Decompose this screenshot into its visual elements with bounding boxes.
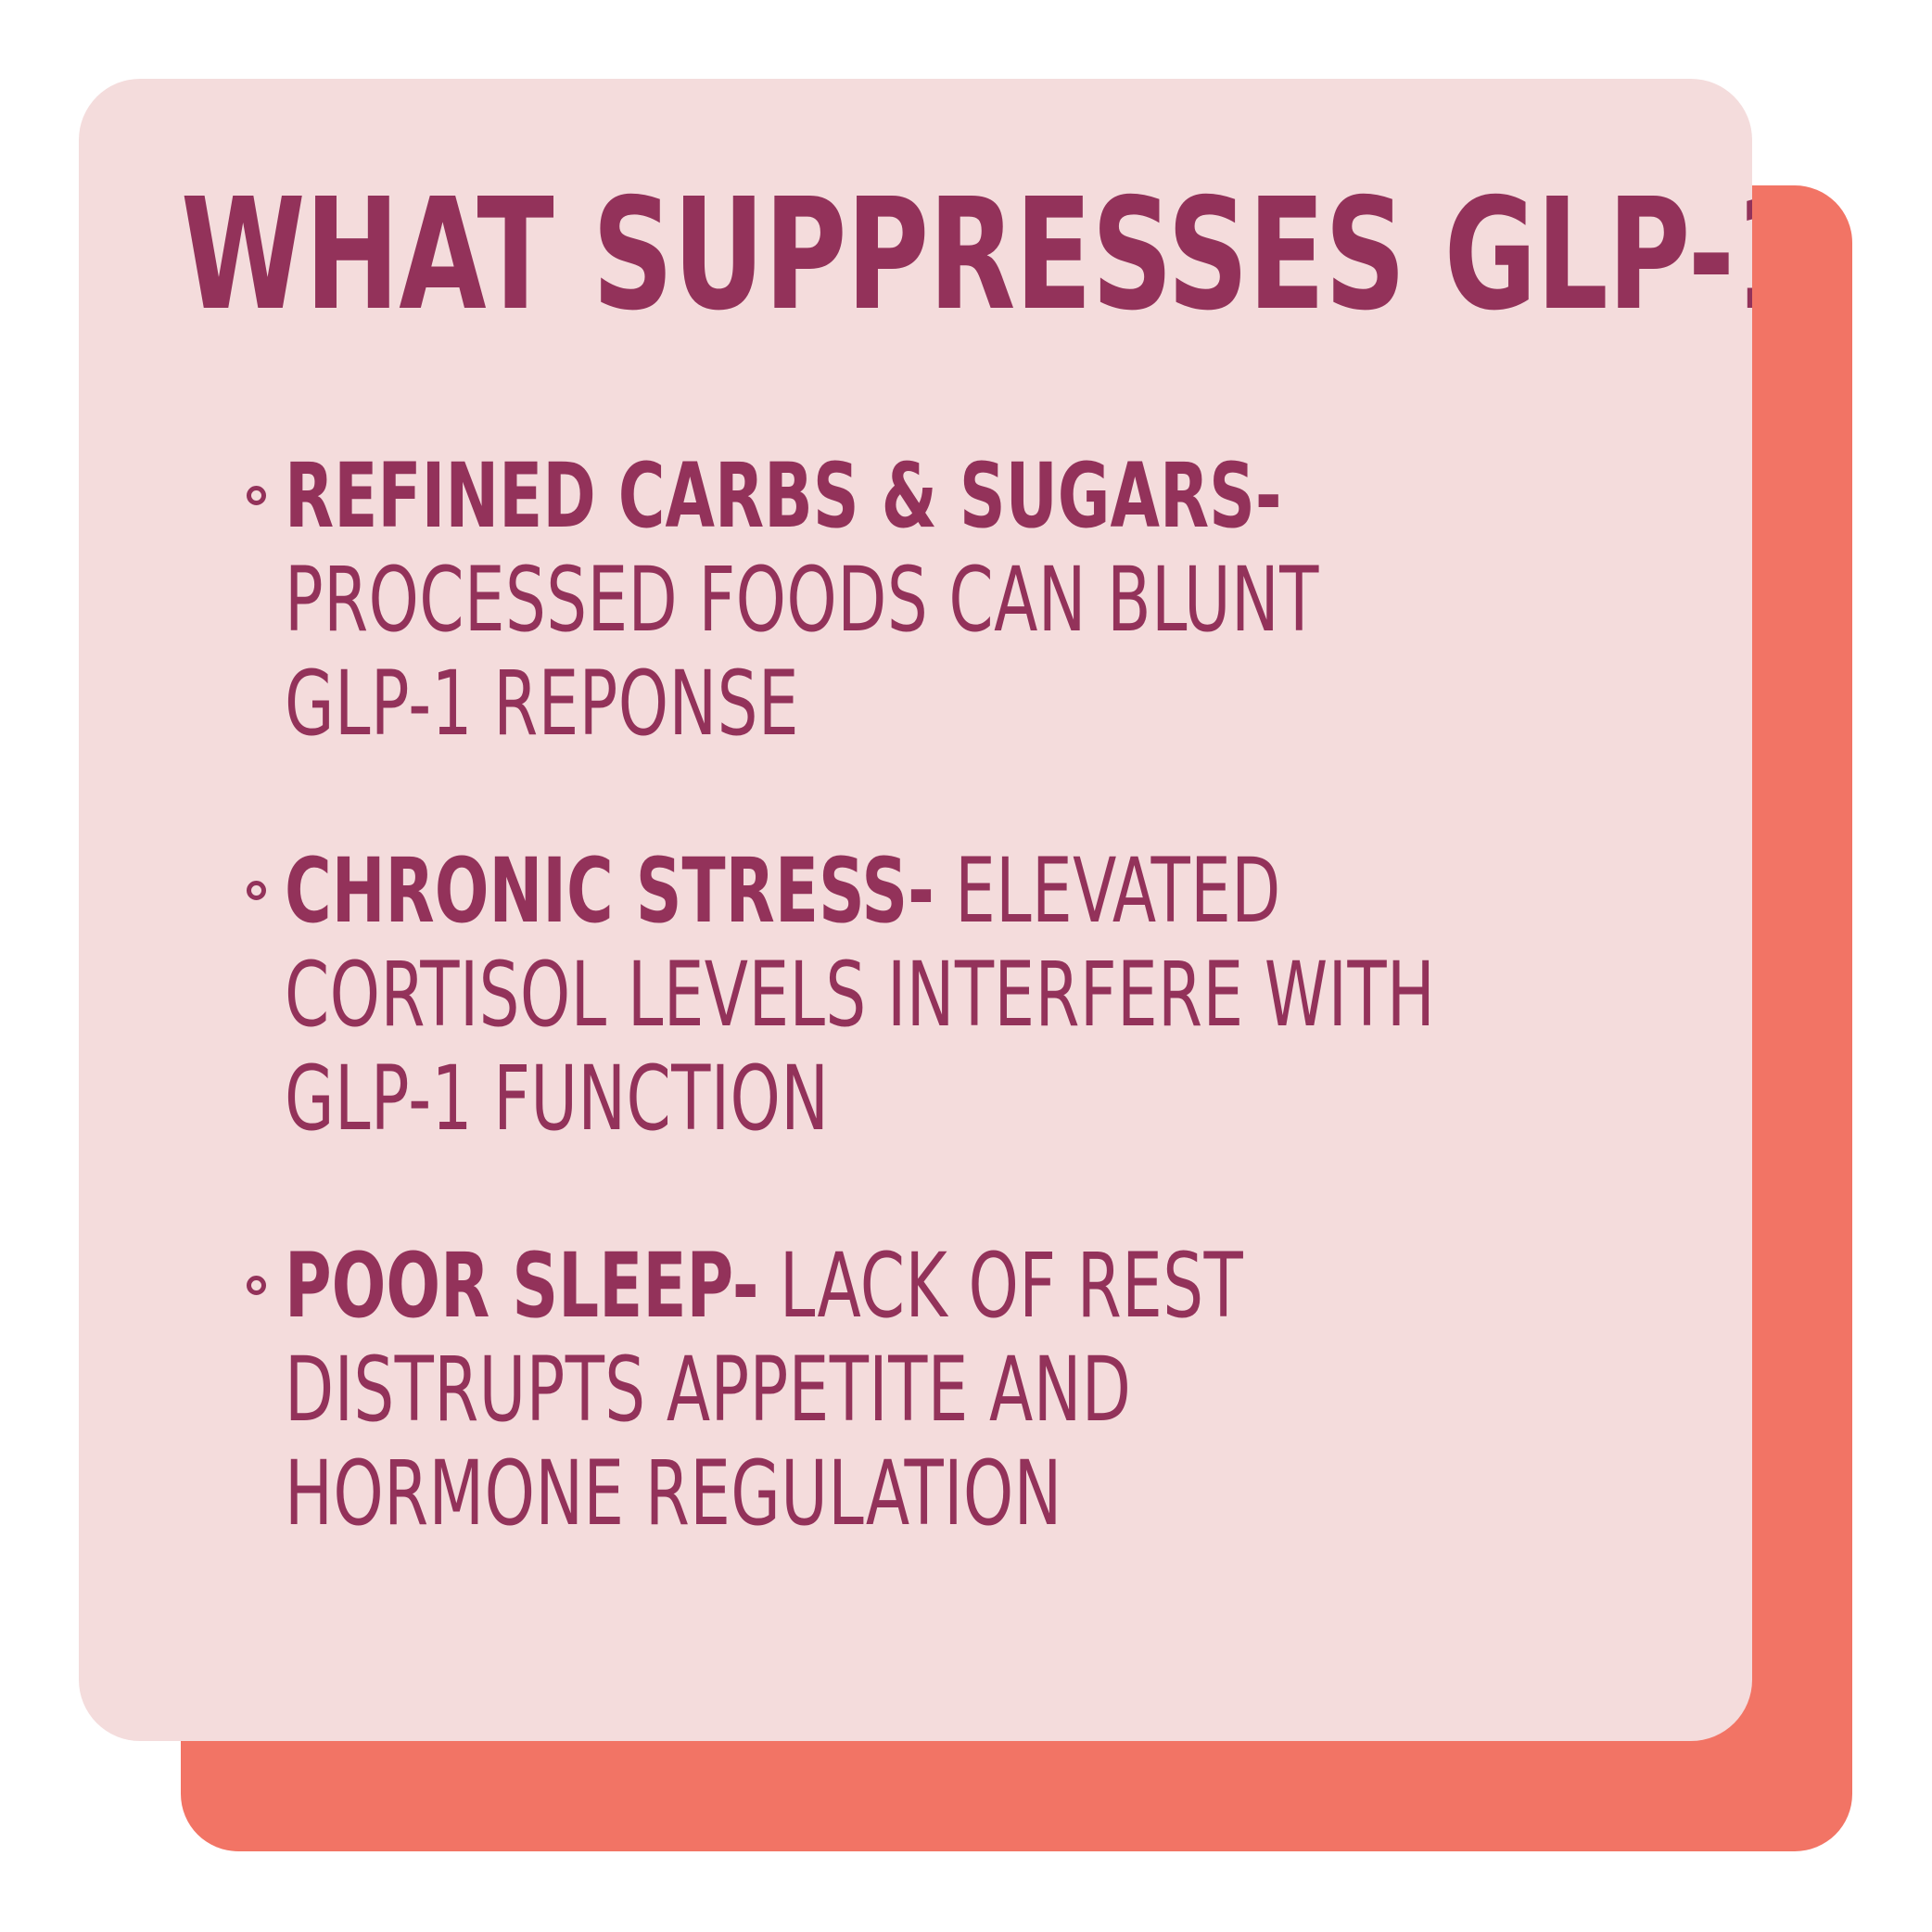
infographic-canvas: WHAT SUPPRESSES GLP-1? REFINED CARBS & S… [0, 0, 1932, 1932]
list-item-text: REFINED CARBS & SUGARS- PROCESSED FOODS … [285, 444, 1442, 756]
list-item-text: CHRONIC STRESS- ELEVATED CORTISOL LEVELS… [285, 839, 1442, 1150]
list-item: REFINED CARBS & SUGARS- PROCESSED FOODS … [244, 444, 1412, 756]
list-item: CHRONIC STRESS- ELEVATED CORTISOL LEVELS… [244, 839, 1412, 1150]
list-item-lead: POOR SLEEP- [285, 1234, 759, 1338]
hollow-circle-icon [247, 881, 266, 900]
content-card: WHAT SUPPRESSES GLP-1? REFINED CARBS & S… [79, 79, 1752, 1741]
hollow-circle-icon [247, 486, 266, 505]
list-item-lead: CHRONIC STRESS- [285, 839, 934, 943]
suppressor-list: REFINED CARBS & SUGARS- PROCESSED FOODS … [244, 444, 1412, 1545]
page-title: WHAT SUPPRESSES GLP-1? [181, 179, 1312, 333]
list-item-lead: REFINED CARBS & SUGARS- [285, 444, 1282, 548]
hollow-circle-icon [247, 1276, 266, 1295]
list-item-text: POOR SLEEP- LACK OF REST DISTRUPTS APPET… [285, 1234, 1442, 1545]
list-item-body: PROCESSED FOODS CAN BLUNT GLP-1 REPONSE [285, 548, 1319, 756]
list-item: POOR SLEEP- LACK OF REST DISTRUPTS APPET… [244, 1234, 1412, 1545]
